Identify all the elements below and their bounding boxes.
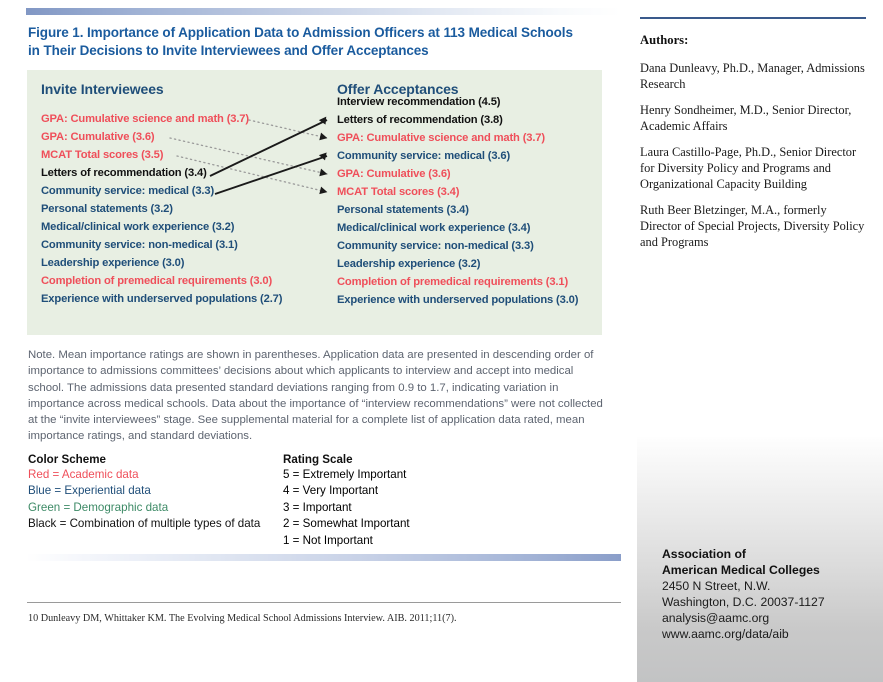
offer-item-3: GPA: Cumulative science and math (3.7): [337, 132, 545, 144]
rating-scale-list: 5 = Extremely Important 4 = Very Importa…: [283, 467, 410, 549]
invite-item-9: Leadership experience (3.0): [41, 257, 184, 269]
offer-item-4: Community service: medical (3.6): [337, 150, 510, 162]
offer-item-5: GPA: Cumulative (3.6): [337, 168, 451, 180]
color-scheme-entry-blue: Blue = Experiential data: [28, 483, 260, 499]
invite-item-4: Letters of recommendation (3.4): [41, 167, 207, 179]
offer-item-10: Leadership experience (3.2): [337, 258, 480, 270]
color-scheme-entry-black: Black = Combination of multiple types of…: [28, 516, 260, 532]
color-scheme-entry-red: Red = Academic data: [28, 467, 260, 483]
rating-scale-entry-4: 4 = Very Important: [283, 483, 410, 499]
invite-item-6: Personal statements (3.2): [41, 203, 173, 215]
organization-email[interactable]: analysis@aamc.org: [662, 610, 877, 626]
organization-name-line2: American Medical Colleges: [662, 562, 877, 578]
authors-heading: Authors:: [640, 33, 688, 48]
rating-scale-title: Rating Scale: [283, 453, 353, 466]
author-entry-3: Laura Castillo-Page, Ph.D., Senior Direc…: [640, 144, 868, 192]
rating-scale-entry-2: 2 = Somewhat Important: [283, 516, 410, 532]
figure-note: Note. Mean importance ratings are shown …: [28, 347, 608, 445]
organization-contact: Association of American Medical Colleges…: [662, 546, 877, 643]
color-scheme-list: Red = Academic data Blue = Experiential …: [28, 467, 260, 533]
invite-item-5: Community service: medical (3.3): [41, 185, 214, 197]
column-heading-invite-interviewees: Invite Interviewees: [41, 81, 164, 97]
sidebar-divider-rule: [640, 17, 866, 19]
invite-item-10: Completion of premedical requirements (3…: [41, 275, 272, 287]
offer-item-9: Community service: non-medical (3.3): [337, 240, 534, 252]
organization-website[interactable]: www.aamc.org/data/aib: [662, 626, 877, 642]
offer-item-12: Experience with underserved populations …: [337, 294, 578, 306]
authors-list: Dana Dunleavy, Ph.D., Manager, Admission…: [640, 60, 868, 260]
figure-title: Figure 1. Importance of Application Data…: [28, 24, 588, 60]
invite-item-8: Community service: non-medical (3.1): [41, 239, 238, 251]
invite-item-2: GPA: Cumulative (3.6): [41, 131, 155, 143]
author-entry-1: Dana Dunleavy, Ph.D., Manager, Admission…: [640, 60, 868, 92]
document-page: Figure 1. Importance of Application Data…: [0, 0, 883, 682]
rating-scale-entry-3: 3 = Important: [283, 500, 410, 516]
invite-item-7: Medical/clinical work experience (3.2): [41, 221, 234, 233]
column-heading-offer-acceptances: Offer Acceptances: [337, 81, 459, 97]
color-scheme-entry-green: Green = Demographic data: [28, 500, 260, 516]
invite-item-1: GPA: Cumulative science and math (3.7): [41, 113, 249, 125]
rating-scale-entry-1: 1 = Not Important: [283, 533, 410, 549]
author-entry-4: Ruth Beer Bletzinger, M.A., formerly Dir…: [640, 202, 868, 250]
color-scheme-title: Color Scheme: [28, 453, 106, 466]
footnote-divider-rule: [27, 602, 621, 603]
top-gradient-rule: [26, 8, 621, 15]
organization-street: 2450 N Street, N.W.: [662, 578, 877, 594]
bottom-gradient-rule: [26, 554, 621, 561]
organization-name-line1: Association of: [662, 546, 877, 562]
offer-item-1: Interview recommendation (4.5): [337, 96, 500, 108]
offer-item-11: Completion of premedical requirements (3…: [337, 276, 568, 288]
offer-item-8: Medical/clinical work experience (3.4): [337, 222, 530, 234]
organization-city-state-zip: Washington, D.C. 20037-1127: [662, 594, 877, 610]
footnote-citation: 10 Dunleavy DM, Whittaker KM. The Evolvi…: [28, 612, 608, 625]
offer-item-7: Personal statements (3.4): [337, 204, 469, 216]
rating-scale-entry-5: 5 = Extremely Important: [283, 467, 410, 483]
offer-item-2: Letters of recommendation (3.8): [337, 114, 503, 126]
invite-item-11: Experience with underserved populations …: [41, 293, 282, 305]
author-entry-2: Henry Sondheimer, M.D., Senior Director,…: [640, 102, 868, 134]
invite-item-3: MCAT Total scores (3.5): [41, 149, 163, 161]
offer-item-6: MCAT Total scores (3.4): [337, 186, 459, 198]
